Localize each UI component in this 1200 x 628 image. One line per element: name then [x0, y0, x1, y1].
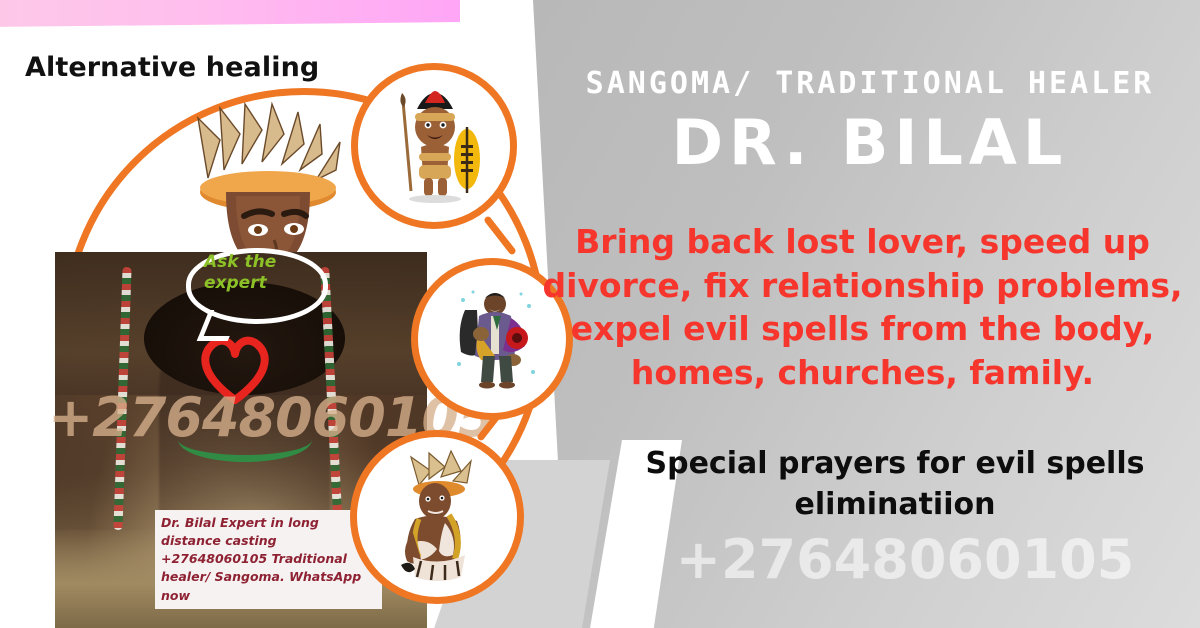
healer-name-heading: DR. BILAL: [560, 106, 1180, 179]
special-prayers-text: Special prayers for evil spells eliminat…: [600, 444, 1190, 525]
zulu-warrior-illustration: [369, 81, 499, 211]
photo-caption: Dr. Bilal Expert in long distance castin…: [155, 510, 382, 609]
page-title: Alternative healing: [25, 52, 319, 83]
crouching-dancer-illustration: [367, 447, 507, 587]
poster-canvas: Alternative healing: [0, 0, 1200, 628]
contact-phone-number: +27648060105: [620, 528, 1190, 591]
circle-zulu-warrior: [351, 63, 517, 229]
eyebrow-heading: SANGOMA/ TRADITIONAL HEALER: [560, 66, 1180, 101]
services-text: Bring back lost lover, speed up divorce,…: [535, 220, 1190, 394]
photo-watermark-phone: +27648060105: [48, 386, 448, 449]
speech-bubble-text: Ask the expert: [204, 252, 314, 295]
circle-crouching-dancer: [350, 430, 524, 604]
